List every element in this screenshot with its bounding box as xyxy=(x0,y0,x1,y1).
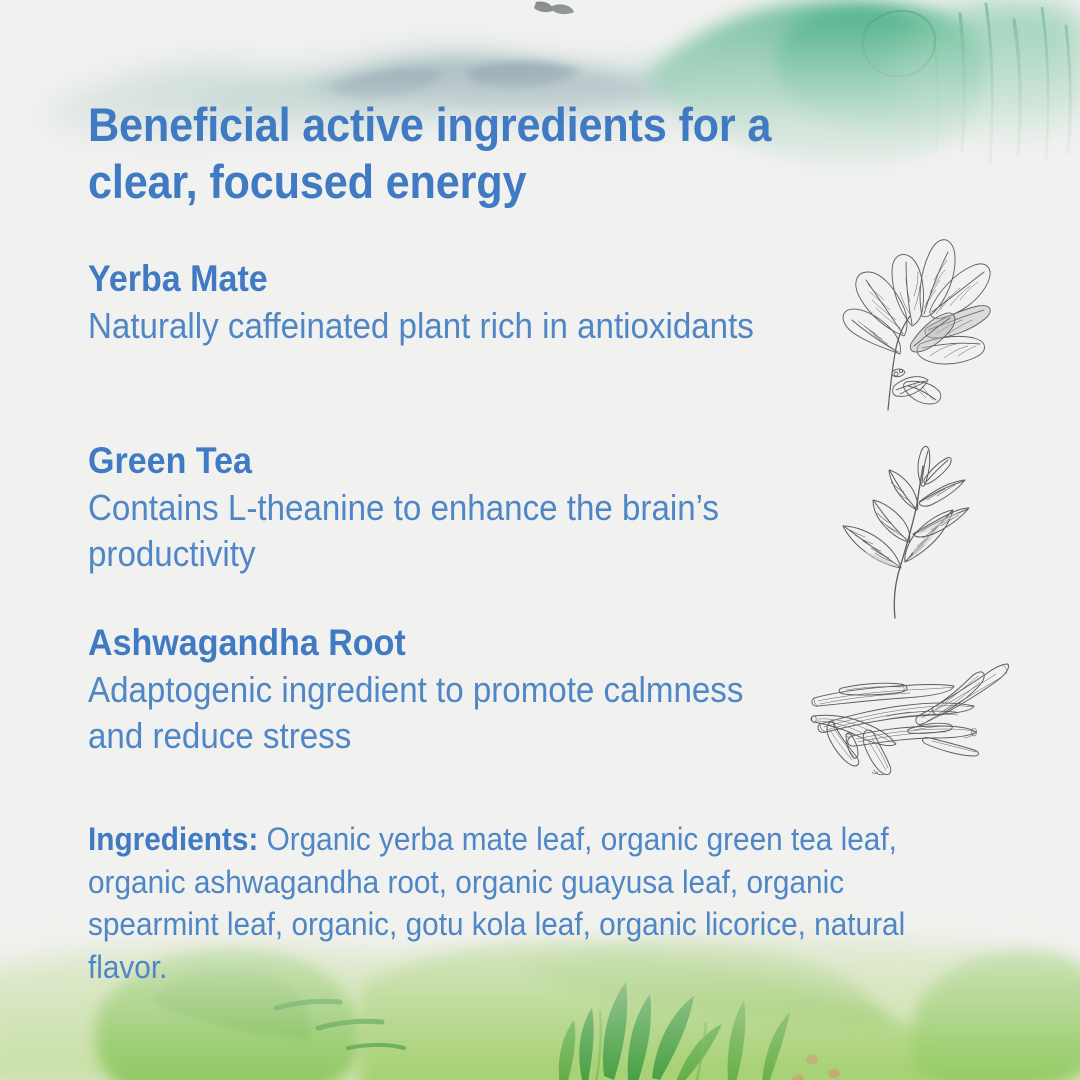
ingredient-description: Naturally caffeinated plant rich in anti… xyxy=(88,303,769,349)
ingredients-label: Ingredients: xyxy=(88,821,258,857)
ingredient-description: Contains L-theanine to enhance the brain… xyxy=(88,485,769,576)
page-headline: Beneficial active ingredients for a clea… xyxy=(88,96,824,211)
green-tea-sprig-icon xyxy=(835,440,1005,620)
ingredient-title: Yerba Mate xyxy=(88,258,769,299)
ingredient-block-ashwagandha-root: Ashwagandha Root Adaptogenic ingredient … xyxy=(88,622,828,759)
ingredient-panel-page: Beneficial active ingredients for a clea… xyxy=(0,0,1080,1080)
ingredient-block-yerba-mate: Yerba Mate Naturally caffeinated plant r… xyxy=(88,258,828,349)
yerba-mate-branch-icon xyxy=(826,224,1012,414)
ingredient-title: Ashwagandha Root xyxy=(88,622,769,663)
ingredient-description: Adaptogenic ingredient to promote calmne… xyxy=(88,667,769,758)
ingredients-paragraph: Ingredients: Organic yerba mate leaf, or… xyxy=(88,818,906,988)
ingredient-block-green-tea: Green Tea Contains L-theanine to enhance… xyxy=(88,440,828,577)
ingredient-title: Green Tea xyxy=(88,440,769,481)
